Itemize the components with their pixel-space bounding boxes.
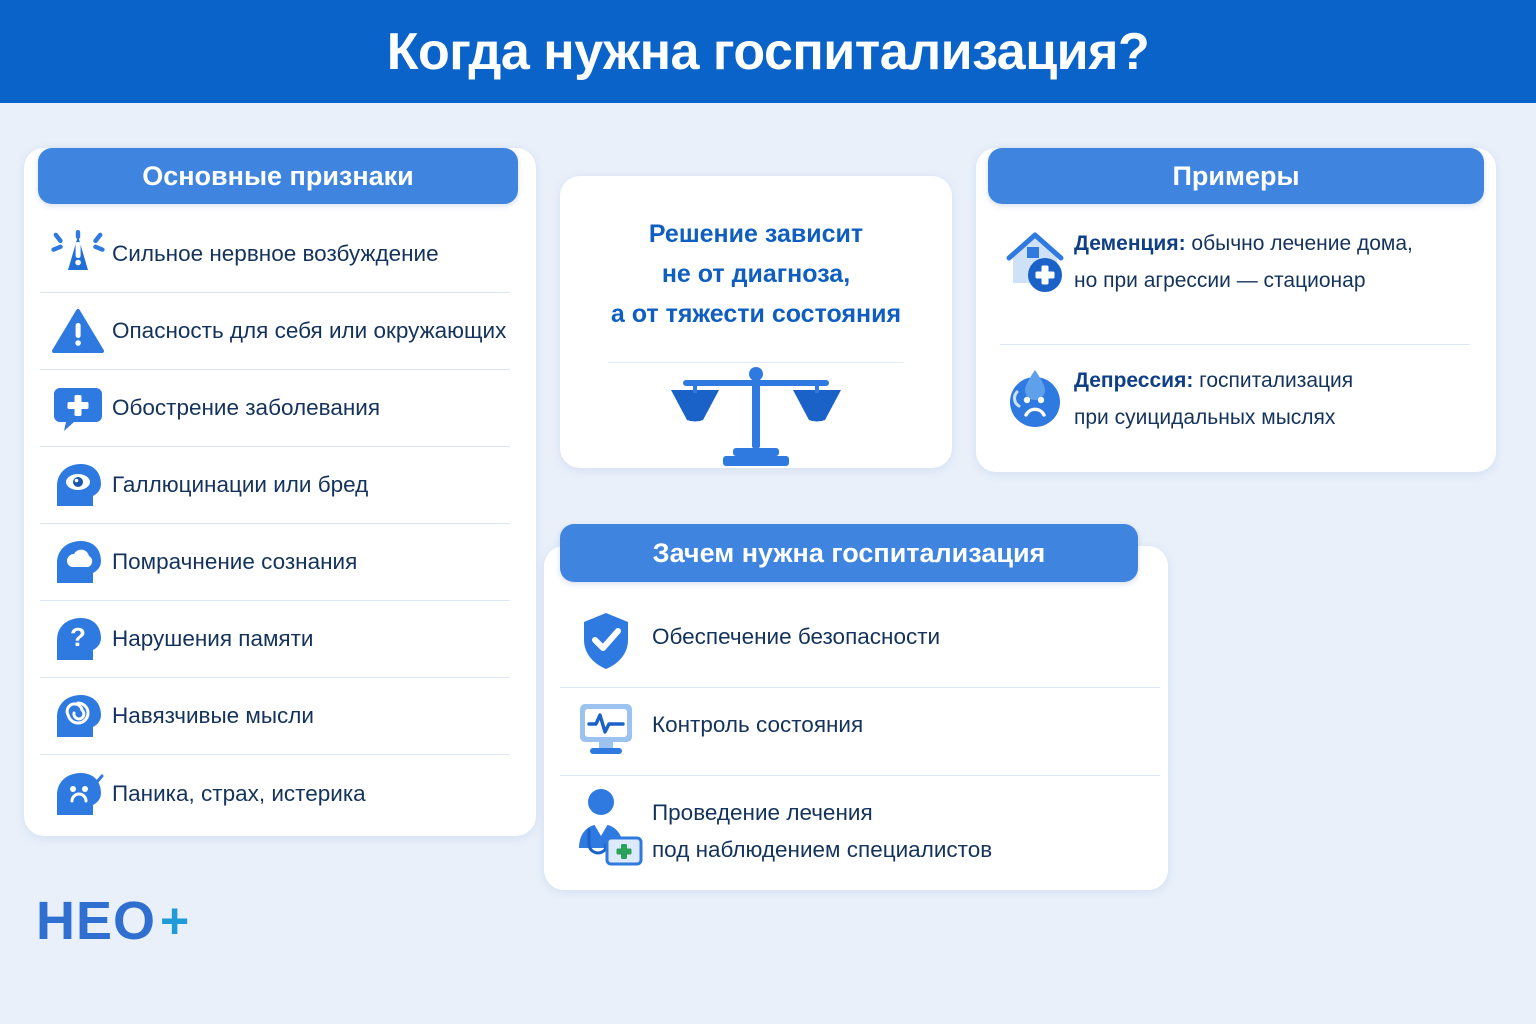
list-item-label: Помрачнение сознания: [112, 549, 357, 575]
decision-card: Решение зависит не от диагноза, а от тяж…: [560, 176, 952, 468]
list-item[interactable]: Депрессия: госпитализация при суицидальн…: [1000, 362, 1486, 436]
examples-card-title: Примеры: [988, 148, 1484, 204]
list-item-label: Галлюцинации или бред: [112, 472, 368, 498]
list-item[interactable]: Обеспечение безопасности: [560, 600, 1160, 688]
head-cloud-icon: [44, 537, 112, 587]
list-item-label: Обеспечение безопасности: [652, 610, 940, 655]
list-item[interactable]: Проведение лечения под наблюдением специ…: [560, 776, 1160, 868]
list-item-label: Нарушения памяти: [112, 626, 314, 652]
example-rest: обычно лечение дома,: [1186, 232, 1413, 255]
head-question-icon: ?: [44, 614, 112, 664]
example-term: Деменция:: [1074, 232, 1186, 255]
scales-balance-icon: [560, 364, 952, 468]
list-item-label: Обострение заболевания: [112, 395, 380, 421]
logo-text: HEO: [36, 890, 156, 952]
example-term: Депрессия:: [1074, 369, 1193, 392]
list-item[interactable]: ? Нарушения памяти: [40, 601, 510, 678]
doctor-icon: [560, 786, 652, 866]
why-label-line1: Проведение лечения: [652, 800, 873, 825]
head-eye-icon: [44, 460, 112, 510]
brand-logo: HEO +: [36, 890, 189, 952]
list-item-label: Навязчивые мысли: [112, 703, 314, 729]
divider: [608, 362, 904, 363]
signs-list: Сильное нервное возбуждение Опасность дл…: [40, 216, 510, 832]
head-panic-icon: [44, 769, 112, 819]
medical-cross-speech-icon: [44, 384, 112, 432]
divider: [1000, 344, 1470, 345]
list-item[interactable]: Обострение заболевания: [40, 370, 510, 447]
home-medical-icon: [1000, 225, 1074, 297]
why-list: Обеспечение безопасности Контроль состоя…: [560, 600, 1160, 868]
svg-text:?: ?: [70, 622, 86, 652]
logo-plus-icon: +: [160, 892, 189, 950]
page-title: Когда нужна госпитализация?: [387, 22, 1150, 82]
list-item[interactable]: Деменция: обычно лечение дома, но при аг…: [1000, 225, 1486, 299]
monitor-pulse-icon: [560, 698, 652, 756]
list-item-label: Сильное нервное возбуждение: [112, 241, 439, 267]
list-item-label: Деменция: обычно лечение дома, но при аг…: [1074, 225, 1413, 299]
decision-line-2: не от диагноза,: [560, 254, 952, 294]
list-item-label: Депрессия: госпитализация при суицидальн…: [1074, 362, 1353, 436]
list-item-label: Опасность для себя или окружающих: [112, 318, 506, 344]
list-item-label: Паника, страх, истерика: [112, 781, 366, 807]
shield-check-icon: [560, 610, 652, 672]
depression-face-icon: [1000, 362, 1074, 434]
decision-line-1: Решение зависит: [560, 214, 952, 254]
warning-triangle-icon: [44, 308, 112, 354]
decision-text: Решение зависит не от диагноза, а от тяж…: [560, 214, 952, 334]
head-spiral-icon: [44, 691, 112, 741]
example-rest: госпитализация: [1193, 369, 1353, 392]
list-item-label: Проведение лечения под наблюдением специ…: [652, 786, 992, 868]
list-item[interactable]: Паника, страх, истерика: [40, 755, 510, 832]
example-line2: при суицидальных мыслях: [1074, 406, 1335, 429]
alert-burst-icon: [44, 230, 112, 278]
why-label-line2: под наблюдением специалистов: [652, 837, 992, 862]
list-item[interactable]: Помрачнение сознания: [40, 524, 510, 601]
list-item[interactable]: Опасность для себя или окружающих: [40, 293, 510, 370]
list-item[interactable]: Контроль состояния: [560, 688, 1160, 776]
list-item-label: Контроль состояния: [652, 698, 863, 743]
list-item[interactable]: Сильное нервное возбуждение: [40, 216, 510, 293]
example-line2: но при агрессии — стационар: [1074, 269, 1366, 292]
why-card-title: Зачем нужна госпитализация: [560, 524, 1138, 582]
signs-card-title: Основные признаки: [38, 148, 518, 204]
list-item[interactable]: Навязчивые мысли: [40, 678, 510, 755]
decision-line-3: а от тяжести состояния: [560, 294, 952, 334]
page-header: Когда нужна госпитализация?: [0, 0, 1536, 103]
list-item[interactable]: Галлюцинации или бред: [40, 447, 510, 524]
